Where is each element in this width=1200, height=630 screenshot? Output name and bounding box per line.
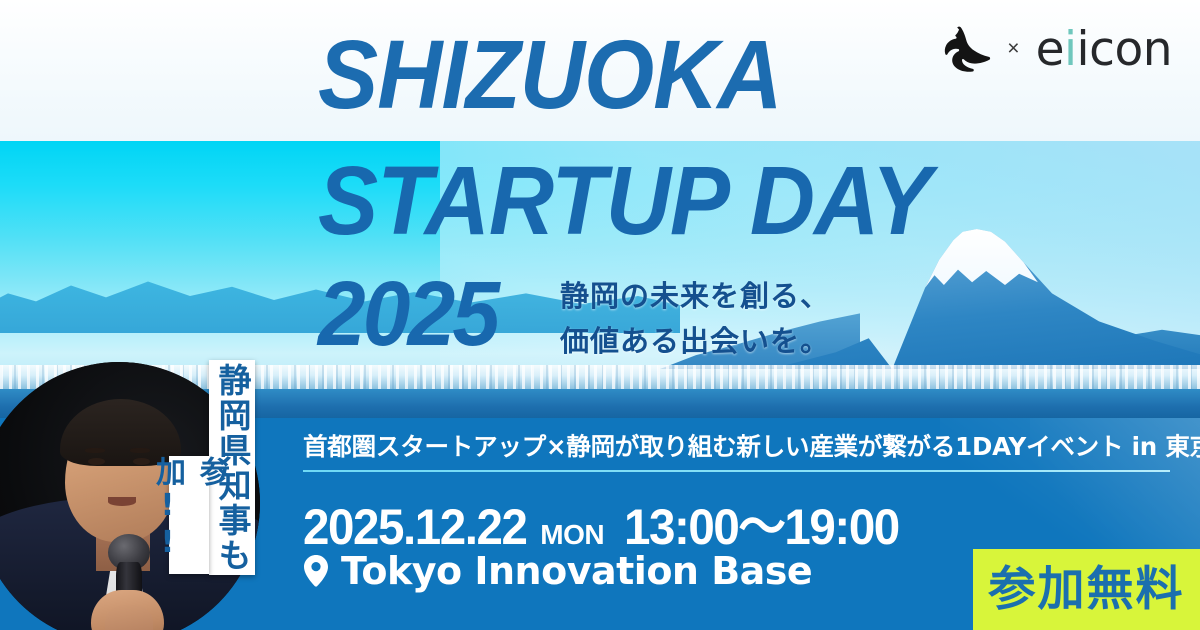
eiicon-mint-i: i	[1064, 22, 1077, 77]
portrait-eye-left	[88, 458, 105, 465]
eiicon-part2: icon	[1077, 22, 1172, 77]
shizuoka-fuji-mark-icon	[927, 25, 991, 75]
venue-name: Tokyo Innovation Base	[341, 549, 812, 593]
portrait-mouth	[108, 497, 136, 505]
info-divider	[303, 470, 1170, 472]
event-subtitle: 首都圏スタートアップ×静岡が取り組む新しい産業が繋がる1DAYイベント in 東…	[303, 428, 1200, 463]
logo-separator-icon: ×	[1007, 38, 1019, 62]
tagline-line-2: 価値ある出会いを。	[560, 319, 830, 364]
tagline: 静岡の未来を創る、 価値ある出会いを。	[560, 274, 830, 364]
event-venue: Tokyo Innovation Base	[303, 549, 812, 593]
free-admission-badge: 参加無料	[973, 549, 1200, 630]
free-admission-label: 参加無料	[989, 566, 1185, 613]
event-day-of-week: MON	[540, 519, 604, 551]
portrait-brow-right	[130, 448, 150, 453]
eiicon-logo: eiicon	[1036, 22, 1172, 77]
portrait-brow-left	[85, 448, 105, 453]
tagline-line-1: 静岡の未来を創る、	[560, 274, 830, 319]
location-pin-icon	[303, 555, 329, 587]
event-date: 2025.12.22	[303, 498, 526, 556]
eiicon-part1: e	[1036, 22, 1064, 77]
logo-row: × eiicon	[927, 22, 1172, 77]
join-label: 参加!!	[169, 456, 209, 574]
event-banner: × eiicon SHIZUOKA STARTUP DAY 2025 静岡の未来…	[0, 0, 1200, 630]
portrait-hand-upper	[105, 605, 153, 630]
